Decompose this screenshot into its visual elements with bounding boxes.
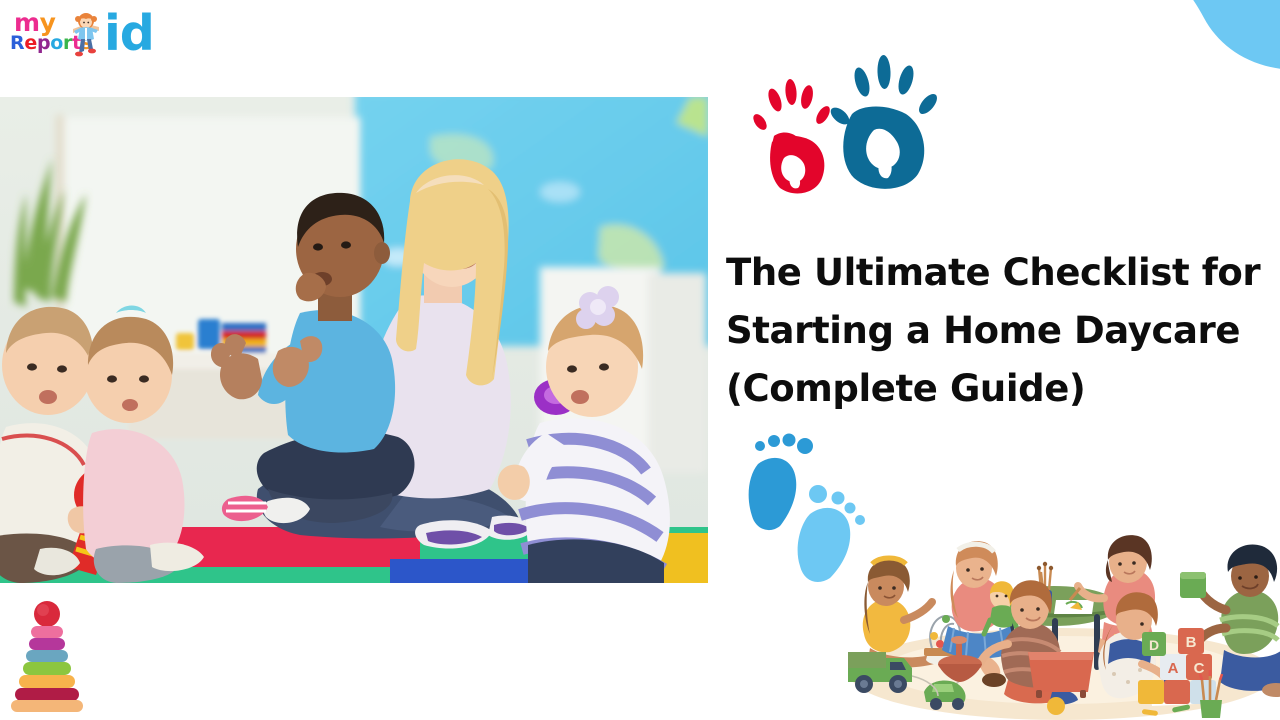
back-footprint	[749, 434, 813, 531]
mykidreports-logo[interactable]: my Reports	[8, 6, 208, 62]
corner-swoosh	[1158, 0, 1280, 70]
headline-line-3: (Complete Guide)	[726, 367, 1085, 410]
red-handprint	[751, 79, 833, 194]
red-ottoman	[1028, 652, 1094, 698]
blue-handprint	[828, 55, 941, 189]
poster-canvas: my Reports	[0, 0, 1280, 720]
svg-text:D: D	[1149, 637, 1159, 653]
stacking-ring-toy	[8, 600, 86, 712]
headline-line-2: Starting a Home Daycare	[726, 309, 1240, 352]
svg-text:B: B	[1186, 634, 1197, 651]
handprints-graphic	[744, 52, 964, 202]
kid-figure-icon	[64, 10, 108, 58]
logo-word-id: id	[104, 5, 154, 62]
svg-text:A: A	[1168, 660, 1179, 677]
headline-line-1: The Ultimate Checklist for	[726, 251, 1260, 294]
children-playing-illustration: B A C D	[842, 524, 1280, 720]
page-title: The Ultimate Checklist for Starting a Ho…	[726, 244, 1278, 418]
daycare-classroom-photo	[0, 97, 708, 583]
